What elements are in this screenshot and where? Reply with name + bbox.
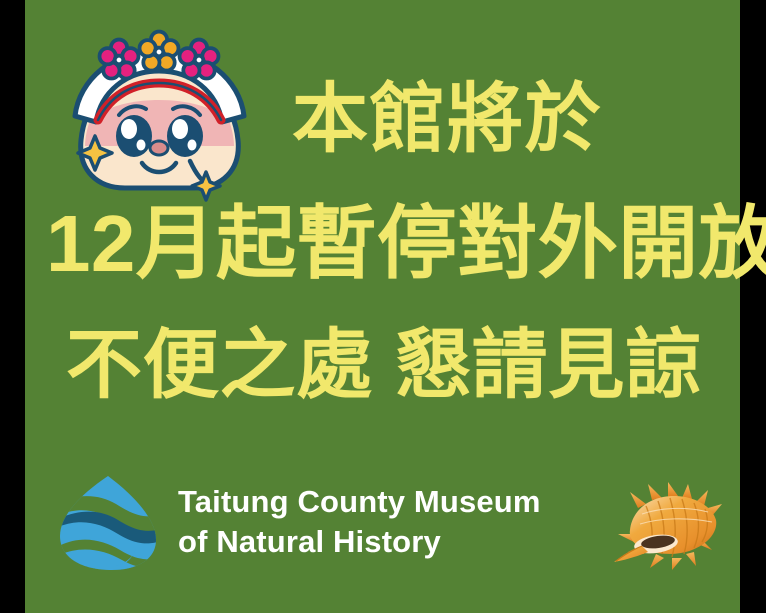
museum-name: Taitung County Museum of Natural History (178, 482, 541, 561)
museum-closure-poster: 本館將於 12月起暫停對外開放 不便之處 懇請見諒 (0, 0, 766, 613)
letterbox-bar-right (740, 0, 766, 613)
museum-name-line-2: of Natural History (178, 522, 541, 562)
museum-name-line-1: Taitung County Museum (178, 482, 541, 522)
letterbox-bar-left (0, 0, 25, 613)
announcement-line-1: 本館將於 (292, 82, 602, 158)
announcement-line-2: 12月起暫停對外開放 (46, 204, 766, 284)
announcement-line-3: 不便之處 懇請見諒 (66, 328, 702, 404)
museum-mascot-illustration (62, 28, 257, 213)
murex-shell-icon (612, 478, 724, 570)
museum-logo-icon (52, 470, 164, 574)
museum-brand-lockup: Taitung County Museum of Natural History (52, 470, 541, 574)
